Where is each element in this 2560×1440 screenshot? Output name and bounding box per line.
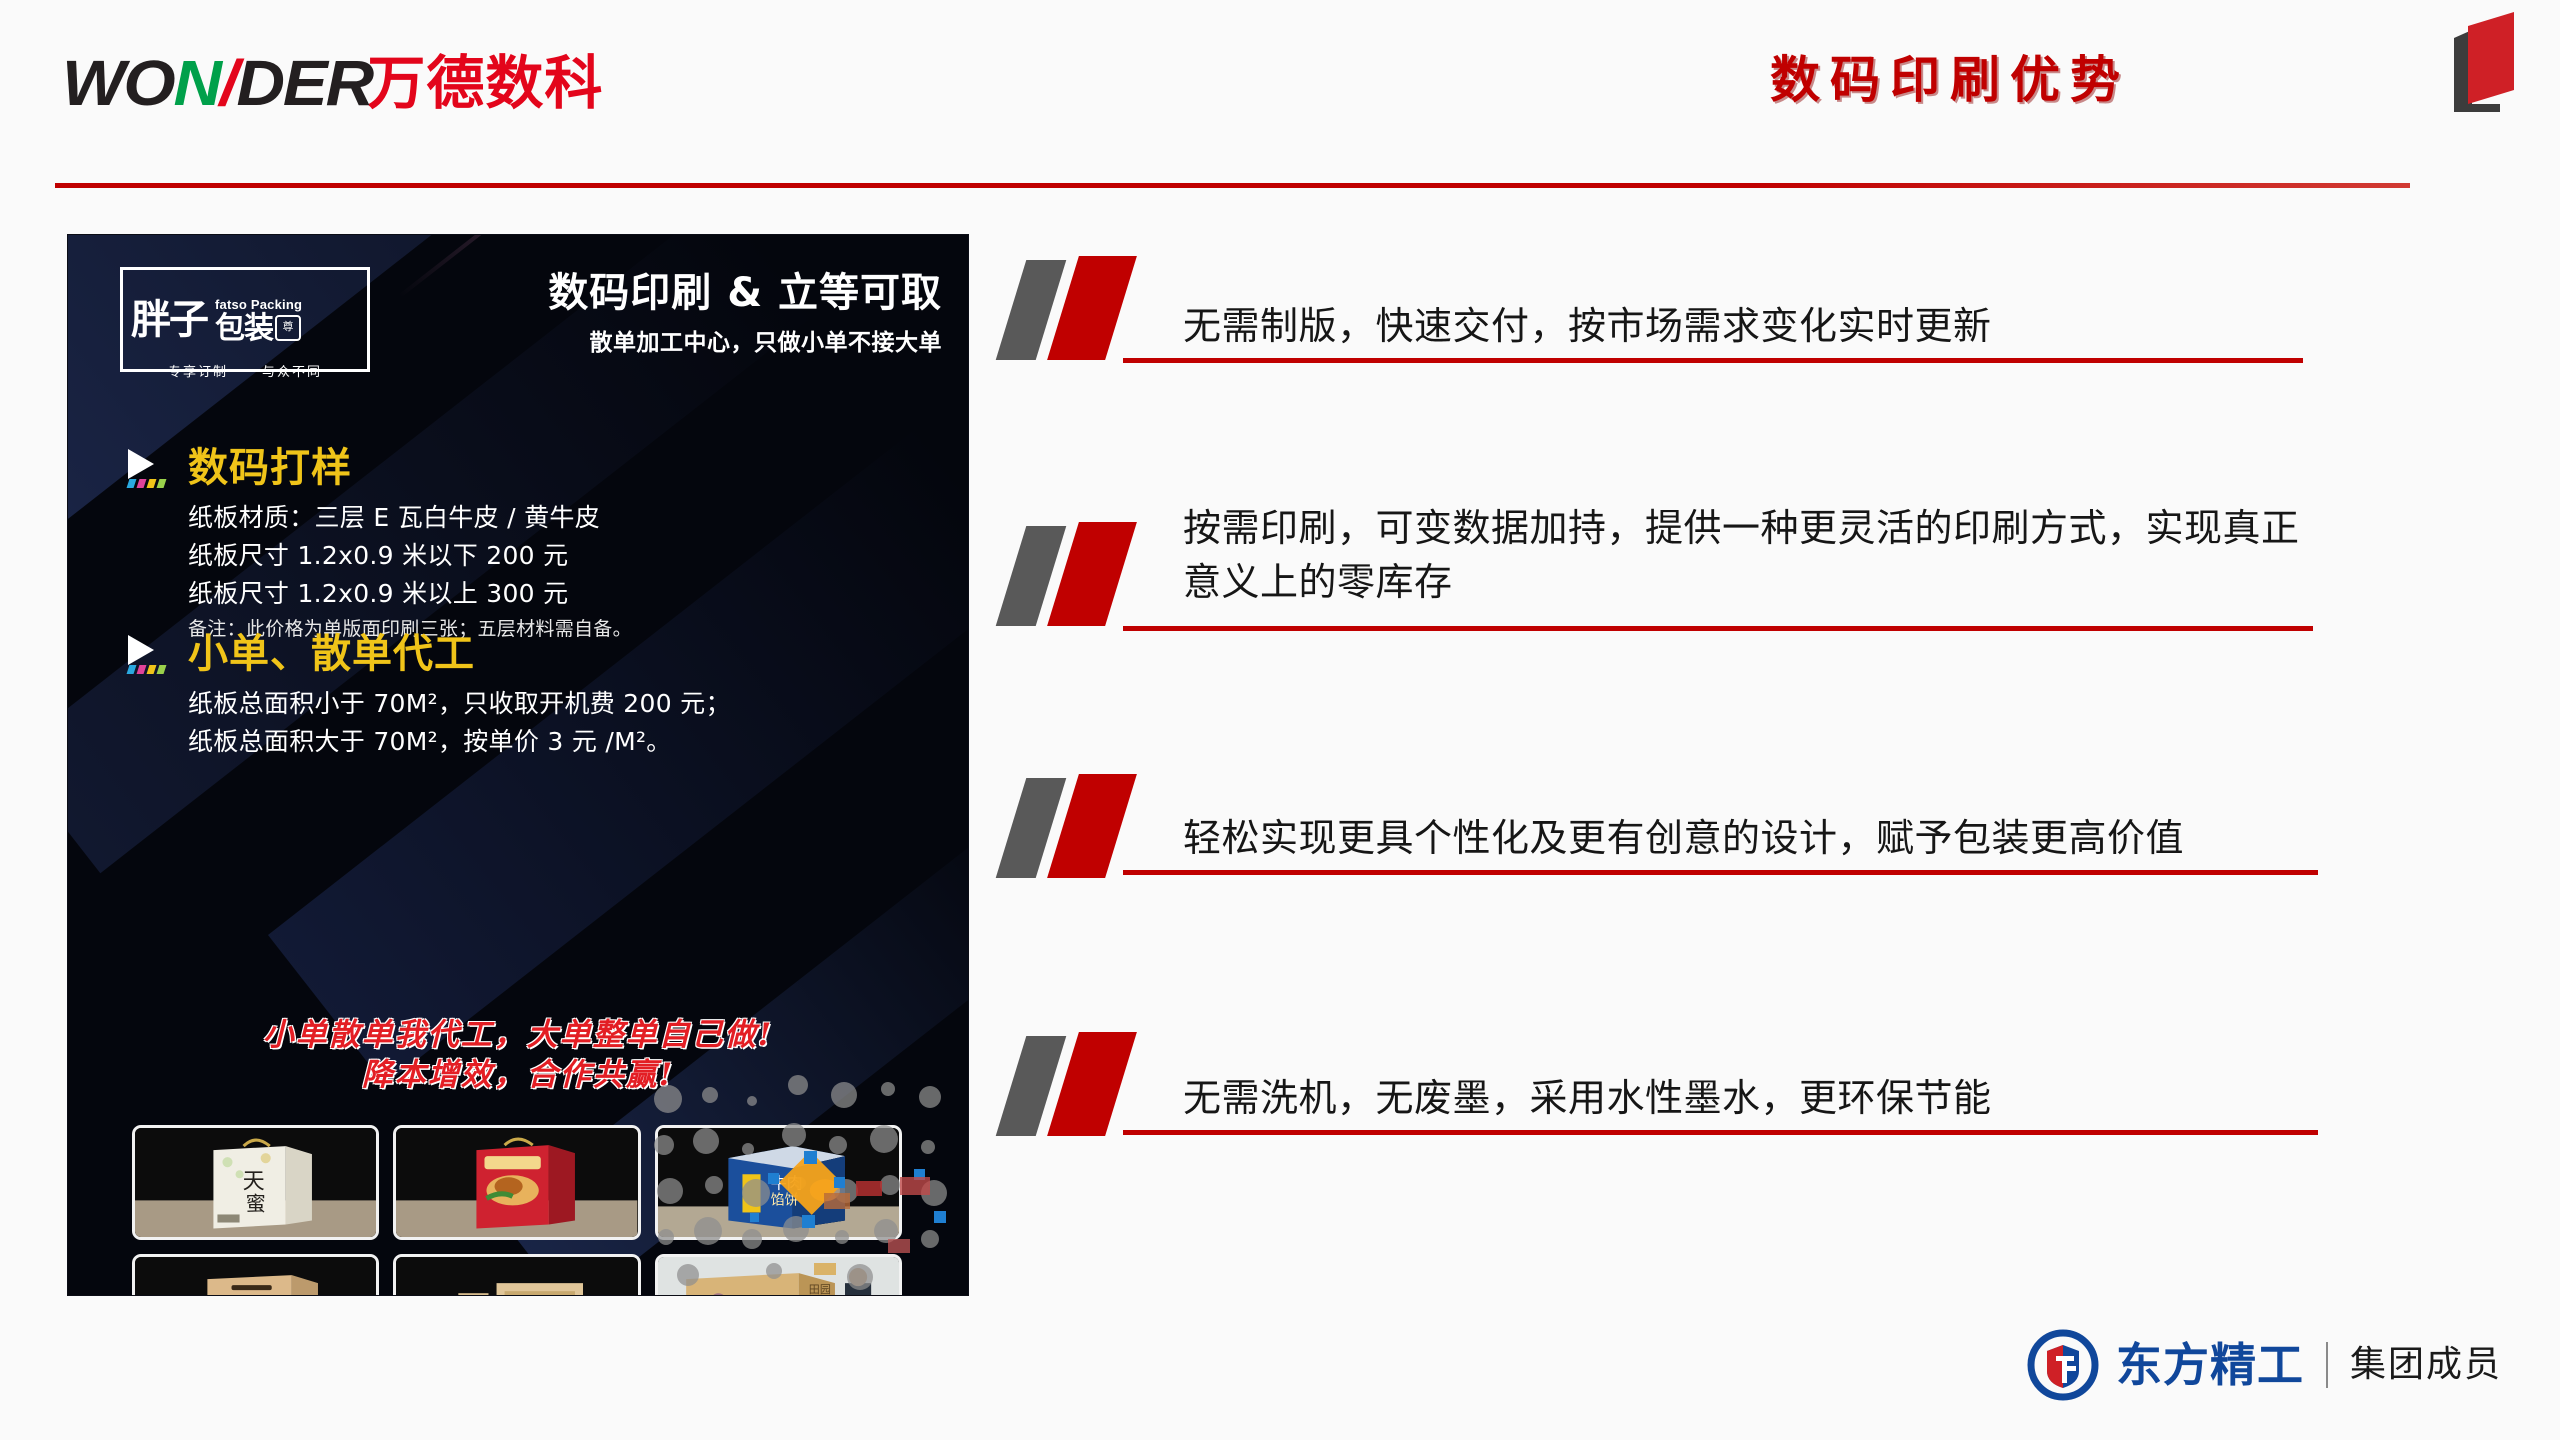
page-title: 数码印刷优势 bbox=[1770, 40, 2130, 112]
advantage-underline bbox=[1123, 358, 2303, 363]
advantage-item-3[interactable]: 轻松实现更具个性化及更有创意的设计，赋予包装更高价值 bbox=[1005, 780, 2435, 1010]
advantage-item-4[interactable]: 无需洗机，无废墨，采用水性墨水，更环保节能 bbox=[1005, 1010, 2435, 1230]
footer-divider bbox=[2326, 1342, 2328, 1388]
product-photo: 天 蜜 bbox=[132, 1125, 379, 1240]
section-title-row: 数码打样 bbox=[126, 447, 632, 489]
advantage-text: 轻松实现更具个性化及更有创意的设计，赋予包装更高价值 bbox=[1183, 780, 2435, 866]
advantage-underline bbox=[1123, 1130, 2318, 1135]
fatso-tagline-right: 与众不同 bbox=[262, 361, 322, 380]
wonder-latin-text: WON/DER bbox=[62, 51, 372, 115]
fatso-packing-logo: 胖子 fatso Packing 包装尊 bbox=[120, 267, 370, 372]
poster-section-small-order-oem: 小单、散单代工 纸板总面积小于 70M²，只收取开机费 200 元； 纸板总面积… bbox=[126, 633, 731, 761]
fatso-logo-stamp: 尊 bbox=[275, 315, 301, 341]
product-photo: 经典 经 bbox=[393, 1254, 640, 1295]
tagline-bar-left bbox=[120, 370, 134, 372]
brand-chinese-name: 万德数科 bbox=[367, 54, 603, 112]
section-line: 纸板材质：三层 E 瓦白牛皮 / 黄牛皮 bbox=[188, 499, 632, 537]
advantage-item-2[interactable]: 按需印刷，可变数据加持，提供一种更灵活的印刷方式，实现真正意义上的零库存 bbox=[1005, 480, 2435, 780]
slogan-line-1: 小单散单我代工，大单整单自己做! bbox=[68, 1015, 968, 1055]
advantages-list: 无需制版，快速交付，按市场需求变化实时更新 按需印刷，可变数据加持，提供一种更灵… bbox=[1005, 250, 2435, 1230]
fatso-logo-en: fatso Packing bbox=[215, 297, 302, 312]
section-body: 纸板材质：三层 E 瓦白牛皮 / 黄牛皮 纸板尺寸 1.2x0.9 米以下 20… bbox=[188, 499, 632, 644]
dfjg-shield-circle-logo-icon bbox=[2026, 1328, 2100, 1402]
product-photo bbox=[132, 1254, 379, 1295]
section-title-text: 数码打样 bbox=[188, 448, 352, 488]
wonder-post: DER bbox=[236, 47, 372, 119]
footer-company-name: 东方精工 bbox=[2116, 1342, 2304, 1388]
footer-brand: 东方精工 集团成员 bbox=[2026, 1328, 2502, 1402]
fatso-tagline-left: 专享订制 bbox=[168, 361, 228, 380]
wonder-n-green: N bbox=[173, 47, 219, 119]
advantage-item-1[interactable]: 无需制版，快速交付，按市场需求变化实时更新 bbox=[1005, 250, 2435, 480]
fatso-logo-taglines: 专享订制 与众不同 bbox=[120, 361, 370, 380]
section-line: 纸板总面积大于 70M²，按单价 3 元 /M²。 bbox=[188, 723, 731, 761]
halftone-dot-pattern bbox=[648, 1065, 968, 1295]
double-slash-marker-icon bbox=[1005, 516, 1155, 626]
wonder-wordmark: WON/DER 万德数科 bbox=[62, 52, 603, 114]
advantage-underline bbox=[1123, 870, 2318, 875]
advantage-text: 按需印刷，可变数据加持，提供一种更灵活的印刷方式，实现真正意义上的零库存 bbox=[1183, 480, 2333, 610]
section-body: 纸板总面积小于 70M²，只收取开机费 200 元； 纸板总面积大于 70M²，… bbox=[188, 685, 731, 761]
advantage-text: 无需制版，快速交付，按市场需求变化实时更新 bbox=[1183, 250, 2435, 354]
wonder-pre: WO bbox=[62, 47, 173, 119]
chevron-arrow-icon bbox=[126, 633, 176, 675]
chevron-arrow-icon bbox=[126, 447, 176, 489]
section-line: 纸板尺寸 1.2x0.9 米以下 200 元 bbox=[188, 537, 632, 575]
brand-logo: WON/DER 万德数科 bbox=[62, 52, 603, 114]
fatso-logo-cn: 胖子 bbox=[131, 300, 207, 340]
advantage-underline bbox=[1123, 626, 2313, 631]
section-title-row: 小单、散单代工 bbox=[126, 633, 731, 675]
poster-headline-block: 数码印刷 & 立等可取 散单加工中心，只做小单不接大单 bbox=[422, 271, 942, 357]
double-slash-marker-icon bbox=[1005, 768, 1155, 878]
poster-headline: 数码印刷 & 立等可取 bbox=[422, 271, 942, 315]
double-slash-marker-icon bbox=[1005, 250, 1155, 360]
header-divider-rule bbox=[55, 183, 2410, 188]
svg-text:蜜: 蜜 bbox=[246, 1191, 266, 1215]
wonder-n-red: / bbox=[220, 47, 237, 119]
product-photo bbox=[393, 1125, 640, 1240]
svg-text:天: 天 bbox=[243, 1168, 265, 1194]
tagline-bar-right bbox=[356, 370, 370, 372]
footer-member-label: 集团成员 bbox=[2350, 1347, 2502, 1383]
folded-page-mark-icon bbox=[2438, 8, 2522, 112]
fatso-logo-cn-sub: 包装 bbox=[215, 311, 273, 346]
section-line: 纸板总面积小于 70M²，只收取开机费 200 元； bbox=[188, 685, 731, 723]
advantage-text: 无需洗机，无废墨，采用水性墨水，更环保节能 bbox=[1183, 1010, 2435, 1126]
slide-root: WON/DER 万德数科 数码印刷优势 胖子 fatso Packing 包装尊 bbox=[0, 0, 2560, 1440]
section-title-text: 小单、散单代工 bbox=[188, 634, 475, 674]
section-line: 纸板尺寸 1.2x0.9 米以上 300 元 bbox=[188, 575, 632, 613]
promo-poster-image: 胖子 fatso Packing 包装尊 专享订制 与众不同 数码印刷 & 立等… bbox=[68, 235, 968, 1295]
double-slash-marker-icon bbox=[1005, 1026, 1155, 1136]
poster-subheadline: 散单加工中心，只做小单不接大单 bbox=[422, 323, 942, 357]
poster-section-digital-proofing: 数码打样 纸板材质：三层 E 瓦白牛皮 / 黄牛皮 纸板尺寸 1.2x0.9 米… bbox=[126, 447, 632, 644]
